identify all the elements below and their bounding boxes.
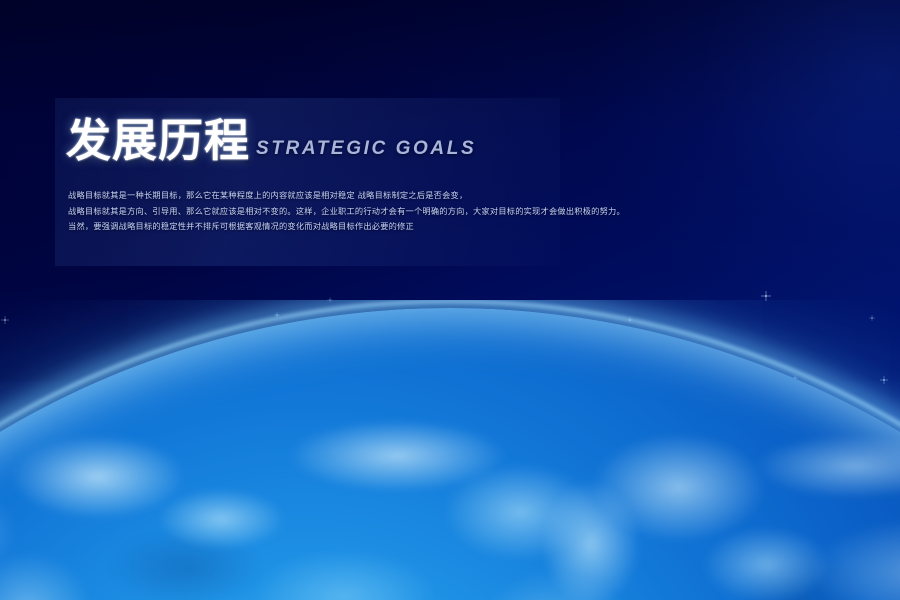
- page-title: 发展历程: [66, 118, 250, 163]
- body-line: 战略目标就其是方向、引导用、那么它就应该是相对不变的。这样，企业职工的行动才会有…: [68, 204, 548, 220]
- page-subtitle: STRATEGIC GOALS: [256, 138, 476, 160]
- earth-globe: [0, 300, 900, 600]
- body-copy: 战略目标就其是一种长期目标，那么它在某种程度上的内容就应该是相对稳定 战略目标制…: [68, 188, 548, 235]
- body-line: 当然，要强调战略目标的稳定性并不排斥可根据客观情况的变化而对战略目标作出必要的修…: [68, 219, 548, 235]
- hero-banner: 发展历程 STRATEGIC GOALS 战略目标就其是一种长期目标，那么它在某…: [0, 0, 900, 600]
- headline-group: 发展历程 STRATEGIC GOALS: [66, 118, 476, 163]
- body-line: 战略目标就其是一种长期目标，那么它在某种程度上的内容就应该是相对稳定 战略目标制…: [68, 188, 548, 204]
